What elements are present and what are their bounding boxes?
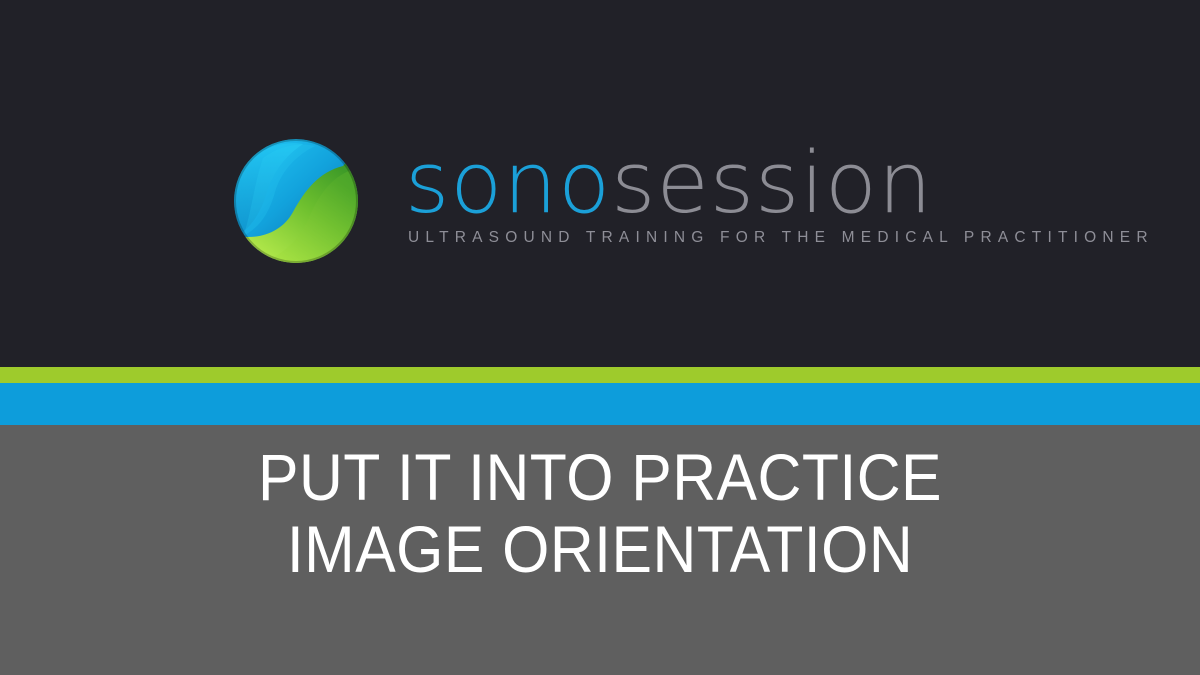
accent-band-blue [0, 383, 1200, 425]
brand-tagline: ULTRASOUND TRAINING FOR THE MEDICAL PRAC… [408, 229, 1154, 247]
accent-band-green [0, 367, 1200, 383]
wordmark-sono: sono [405, 134, 611, 233]
brand-logo-lockup: sonosession ULTRASOUND TRAINING FOR THE … [233, 138, 983, 264]
slide-title-line-2: IMAGE ORIENTATION [48, 513, 1152, 585]
slide-title-line-1: PUT IT INTO PRACTICE [48, 441, 1152, 513]
brand-wordmark: sonosession [405, 132, 933, 236]
wordmark-session: session [611, 134, 933, 233]
slide-canvas: sonosession ULTRASOUND TRAINING FOR THE … [0, 0, 1200, 675]
sonosession-swirl-logo-icon [233, 138, 359, 264]
slide-title: PUT IT INTO PRACTICE IMAGE ORIENTATION [0, 441, 1200, 585]
